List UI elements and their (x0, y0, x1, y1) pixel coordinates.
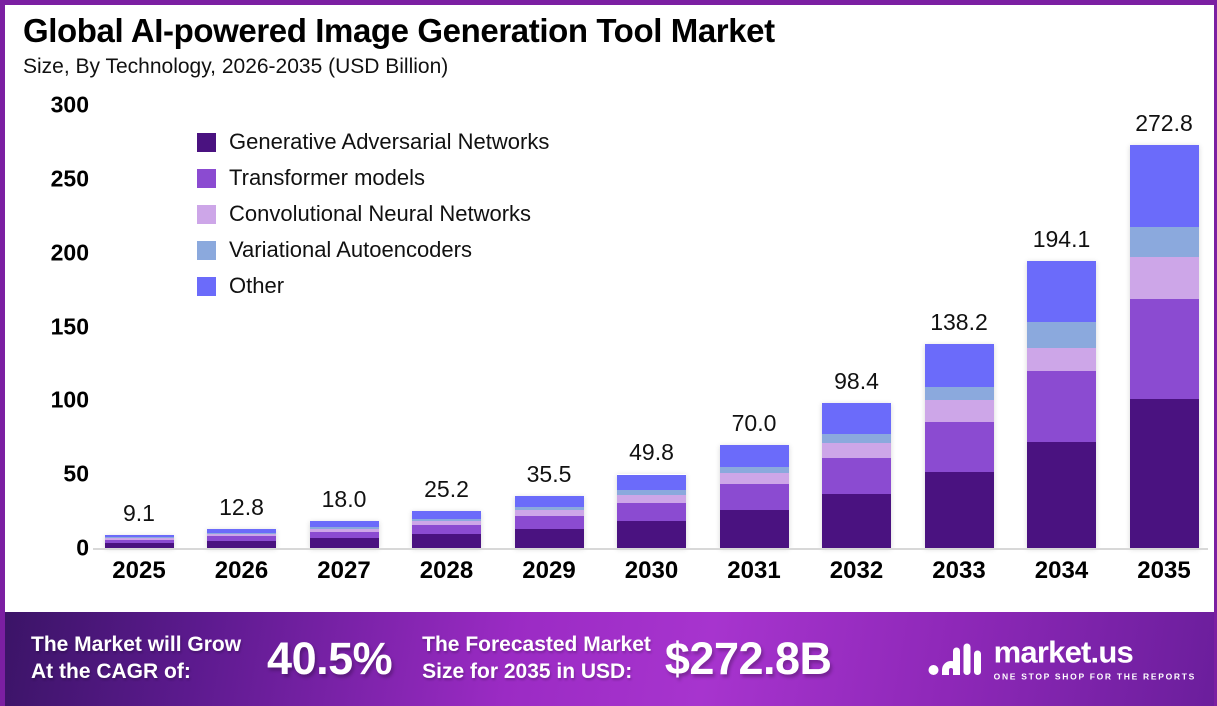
bar-segment[interactable] (1130, 227, 1199, 257)
bar-stack[interactable] (720, 445, 789, 548)
bar-total-label: 98.4 (815, 368, 899, 395)
x-axis-tick: 2027 (302, 557, 386, 585)
cagr-block: The Market will Grow At the CAGR of: 40.… (31, 632, 392, 686)
y-axis-tick: 150 (51, 313, 89, 340)
bar-total-label: 70.0 (712, 410, 796, 437)
bar-column[interactable]: 9.1 (97, 105, 181, 548)
bar-segment[interactable] (1027, 442, 1096, 548)
bar-stack[interactable] (925, 344, 994, 548)
bar-total-label: 194.1 (1020, 226, 1104, 253)
bar-segment[interactable] (1130, 257, 1199, 300)
bar-segment[interactable] (412, 534, 481, 548)
bar-segment[interactable] (207, 541, 276, 548)
bar-segment[interactable] (822, 403, 891, 434)
bar-column[interactable]: 49.8 (610, 105, 694, 548)
bar-segment[interactable] (720, 510, 789, 548)
bar-segment[interactable] (310, 538, 379, 548)
bar-segment[interactable] (412, 511, 481, 519)
market-us-logo[interactable]: market.us ONE STOP SHOP FOR THE REPORTS (928, 637, 1196, 682)
x-axis-tick: 2026 (200, 557, 284, 585)
bar-column[interactable]: 12.8 (200, 105, 284, 548)
x-axis-tick: 2033 (917, 557, 1001, 585)
bar-segment[interactable] (822, 434, 891, 443)
bar-segment[interactable] (617, 521, 686, 548)
bar-segment[interactable] (1027, 371, 1096, 442)
bar-segment[interactable] (925, 344, 994, 387)
forecast-value: $272.8B (665, 633, 832, 685)
y-axis: 300250200150100500 (13, 105, 89, 550)
bar-segment[interactable] (617, 495, 686, 503)
bar-total-label: 49.8 (610, 439, 694, 466)
bar-stack[interactable] (105, 535, 174, 548)
logo-name: market.us (994, 637, 1196, 668)
cagr-caption-line2: At the CAGR of: (31, 659, 241, 686)
bar-stack[interactable] (822, 403, 891, 548)
bar-column[interactable]: 70.0 (712, 105, 796, 548)
plot-area: 300250200150100500 Generative Adversaria… (5, 105, 1217, 610)
bar-segment[interactable] (822, 458, 891, 494)
x-axis-tick: 2032 (815, 557, 899, 585)
market-us-logo-icon (928, 639, 984, 679)
bar-segment[interactable] (720, 445, 789, 467)
forecast-caption-line2: Size for 2035 in USD: (422, 659, 651, 686)
bar-column[interactable]: 35.5 (507, 105, 591, 548)
bar-segment[interactable] (1027, 261, 1096, 322)
bar-segment[interactable] (515, 516, 584, 529)
bar-total-label: 35.5 (507, 461, 591, 488)
bar-segment[interactable] (515, 529, 584, 548)
bar-stack[interactable] (1027, 261, 1096, 548)
bar-segment[interactable] (925, 400, 994, 422)
y-axis-tick: 250 (51, 165, 89, 192)
bar-segment[interactable] (720, 473, 789, 484)
forecast-caption-line1: The Forecasted Market (422, 632, 651, 659)
y-axis-tick: 100 (51, 387, 89, 414)
bar-column[interactable]: 194.1 (1020, 105, 1104, 548)
x-axis-tick: 2034 (1020, 557, 1104, 585)
bar-segment[interactable] (1130, 299, 1199, 398)
bar-total-label: 12.8 (200, 494, 284, 521)
bar-segment[interactable] (925, 472, 994, 548)
bar-total-label: 9.1 (97, 500, 181, 527)
bar-total-label: 138.2 (917, 309, 1001, 336)
chart-header: Global AI-powered Image Generation Tool … (23, 13, 1204, 79)
forecast-block: The Forecasted Market Size for 2035 in U… (422, 632, 831, 686)
y-axis-tick: 200 (51, 239, 89, 266)
bar-segment[interactable] (1130, 399, 1199, 548)
bar-segment[interactable] (925, 422, 994, 472)
bar-stack[interactable] (515, 496, 584, 548)
forecast-caption: The Forecasted Market Size for 2035 in U… (422, 632, 651, 686)
bar-segment[interactable] (515, 496, 584, 507)
bar-stack[interactable] (412, 511, 481, 548)
bar-stack[interactable] (310, 521, 379, 548)
bar-column[interactable]: 18.0 (302, 105, 386, 548)
cagr-caption: The Market will Grow At the CAGR of: (31, 632, 241, 686)
market-infographic: Global AI-powered Image Generation Tool … (0, 0, 1217, 706)
y-axis-tick: 0 (76, 535, 89, 562)
logo-tagline: ONE STOP SHOP FOR THE REPORTS (994, 672, 1196, 682)
cagr-caption-line1: The Market will Grow (31, 632, 241, 659)
x-axis-tick: 2030 (610, 557, 694, 585)
x-axis-tick: 2035 (1122, 557, 1206, 585)
x-axis-tick: 2029 (507, 557, 591, 585)
bar-total-label: 25.2 (405, 476, 489, 503)
bar-stack[interactable] (617, 474, 686, 548)
x-axis-tick: 2031 (712, 557, 796, 585)
footer-banner: The Market will Grow At the CAGR of: 40.… (5, 612, 1214, 706)
logo-text: market.us ONE STOP SHOP FOR THE REPORTS (994, 637, 1196, 682)
bar-segment[interactable] (822, 494, 891, 548)
y-axis-tick: 300 (51, 92, 89, 119)
x-axis: 2025202620272028202920302031203220332034… (97, 557, 1206, 585)
bar-stack[interactable] (207, 529, 276, 548)
bar-segment[interactable] (617, 475, 686, 491)
bar-segment[interactable] (822, 443, 891, 459)
bar-segment[interactable] (1027, 322, 1096, 348)
y-axis-tick: 50 (63, 461, 89, 488)
bar-column[interactable]: 272.8 (1122, 105, 1206, 548)
cagr-value: 40.5% (267, 633, 392, 685)
axis-baseline (93, 548, 1208, 550)
bar-column[interactable]: 98.4 (815, 105, 899, 548)
x-axis-tick: 2028 (405, 557, 489, 585)
bar-series-group: 9.112.818.025.235.549.870.098.4138.2194.… (97, 105, 1206, 548)
bar-column[interactable]: 25.2 (405, 105, 489, 548)
bar-segment[interactable] (925, 387, 994, 400)
bar-segment[interactable] (412, 525, 481, 534)
bar-segment[interactable] (720, 484, 789, 509)
bar-stack[interactable] (1130, 145, 1199, 548)
bar-column[interactable]: 138.2 (917, 105, 1001, 548)
page-title: Global AI-powered Image Generation Tool … (23, 13, 1204, 50)
bar-total-label: 272.8 (1122, 110, 1206, 137)
bar-segment[interactable] (1027, 348, 1096, 371)
page-subtitle: Size, By Technology, 2026-2035 (USD Bill… (23, 54, 1204, 79)
bar-segment[interactable] (1130, 145, 1199, 227)
bar-total-label: 18.0 (302, 486, 386, 513)
x-axis-tick: 2025 (97, 557, 181, 585)
bar-segment[interactable] (617, 503, 686, 521)
